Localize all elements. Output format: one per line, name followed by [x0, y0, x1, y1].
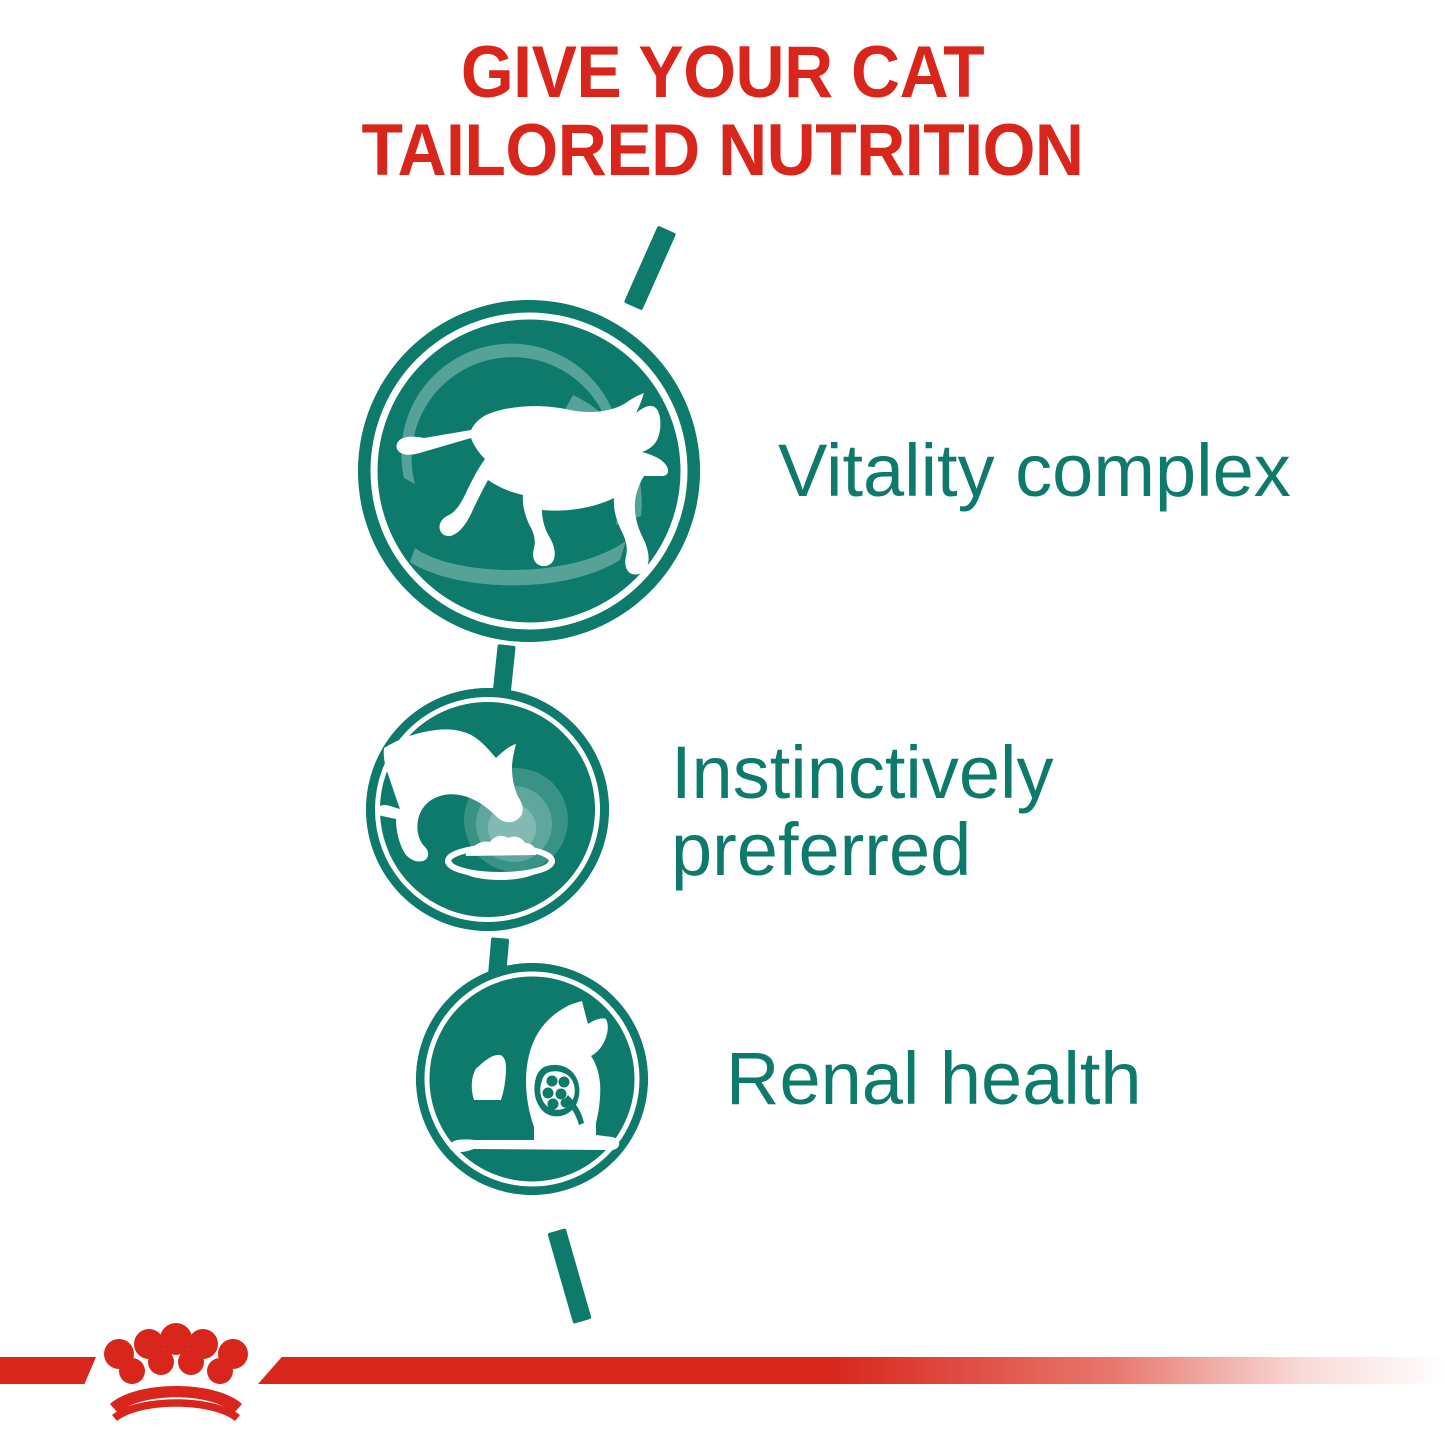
- benefit-label-vitality-complex: Vitality complex: [778, 433, 1291, 510]
- cat-walking-icon: [358, 300, 700, 642]
- cat-sitting-kidney-icon: [416, 963, 648, 1195]
- benefit-item-vitality-complex: Vitality complex: [358, 300, 1291, 642]
- footer-rule-left: [0, 1357, 96, 1384]
- royal-canin-crown-icon: [100, 1316, 252, 1424]
- connector-dash-bottom: [547, 1228, 591, 1324]
- footer-rule-right: [258, 1357, 1445, 1384]
- benefit-item-renal-health: Renal health: [416, 963, 1142, 1195]
- benefit-label-renal-health: Renal health: [726, 1041, 1142, 1118]
- page-title: GIVE YOUR CAT TAILORED NUTRITION: [51, 34, 1395, 190]
- connector-dash-top: [624, 226, 676, 311]
- cat-eating-from-bowl-icon: [366, 688, 609, 931]
- benefit-item-instinctively-preferred: Instinctively preferred: [366, 688, 1053, 931]
- packaging-infographic-page: GIVE YOUR CAT TAILORED NUTRITION: [0, 0, 1445, 1445]
- benefit-label-instinctively-preferred: Instinctively preferred: [671, 735, 1053, 889]
